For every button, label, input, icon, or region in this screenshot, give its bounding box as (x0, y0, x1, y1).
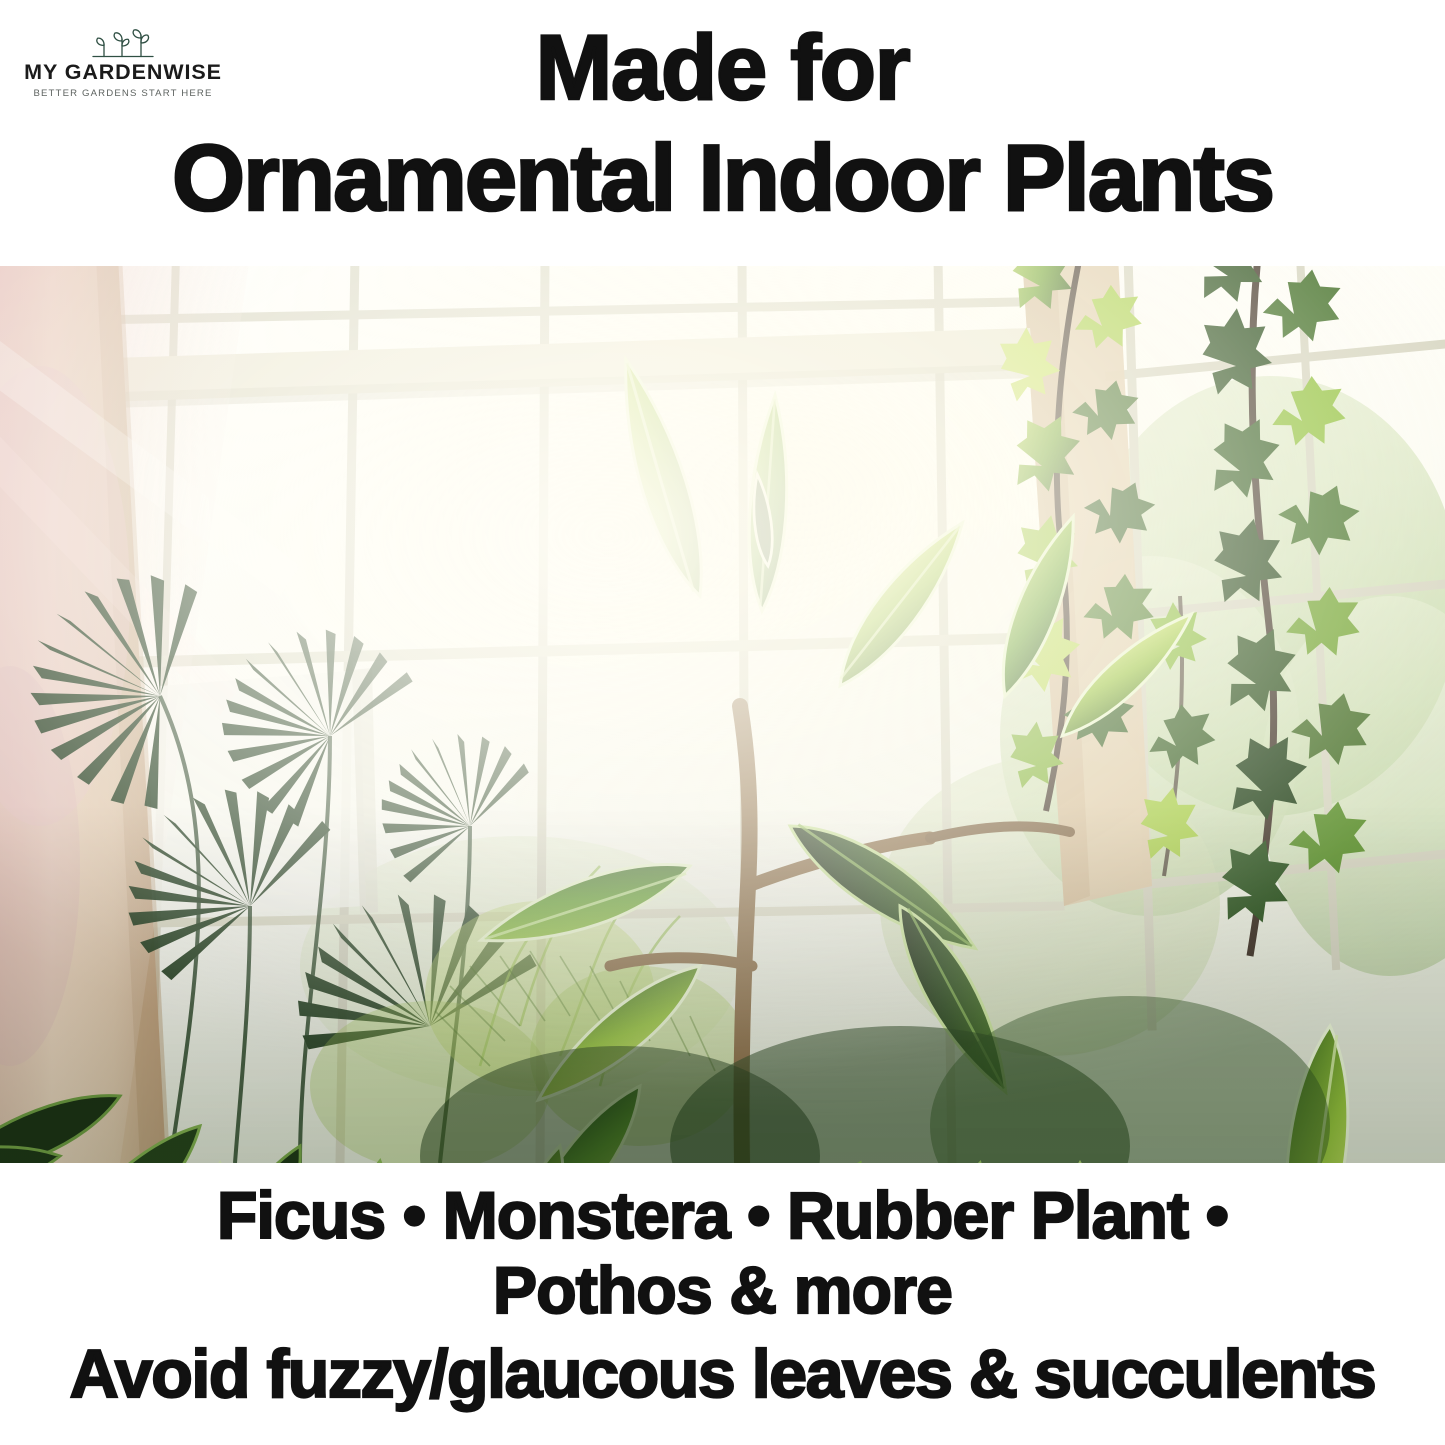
headline-line-2: Ornamental Indoor Plants (14, 123, 1431, 234)
graphic-card: MY GARDENWISE BETTER GARDENS START HERE … (0, 0, 1445, 1445)
greenhouse-photo (0, 266, 1445, 1163)
plant-list-caption: Ficus • Monstera • Rubber Plant • Pothos… (0, 1178, 1445, 1414)
page-title: Made for Ornamental Indoor Plants (0, 14, 1445, 233)
headline-line-1: Made for (14, 14, 1431, 123)
photo-scene (0, 266, 1445, 1163)
caption-line-1: Ficus • Monstera • Rubber Plant • (10, 1178, 1435, 1253)
caption-line-3: Avoid fuzzy/glaucous leaves & succulents (10, 1336, 1435, 1414)
caption-line-2: Pothos & more (10, 1253, 1435, 1328)
